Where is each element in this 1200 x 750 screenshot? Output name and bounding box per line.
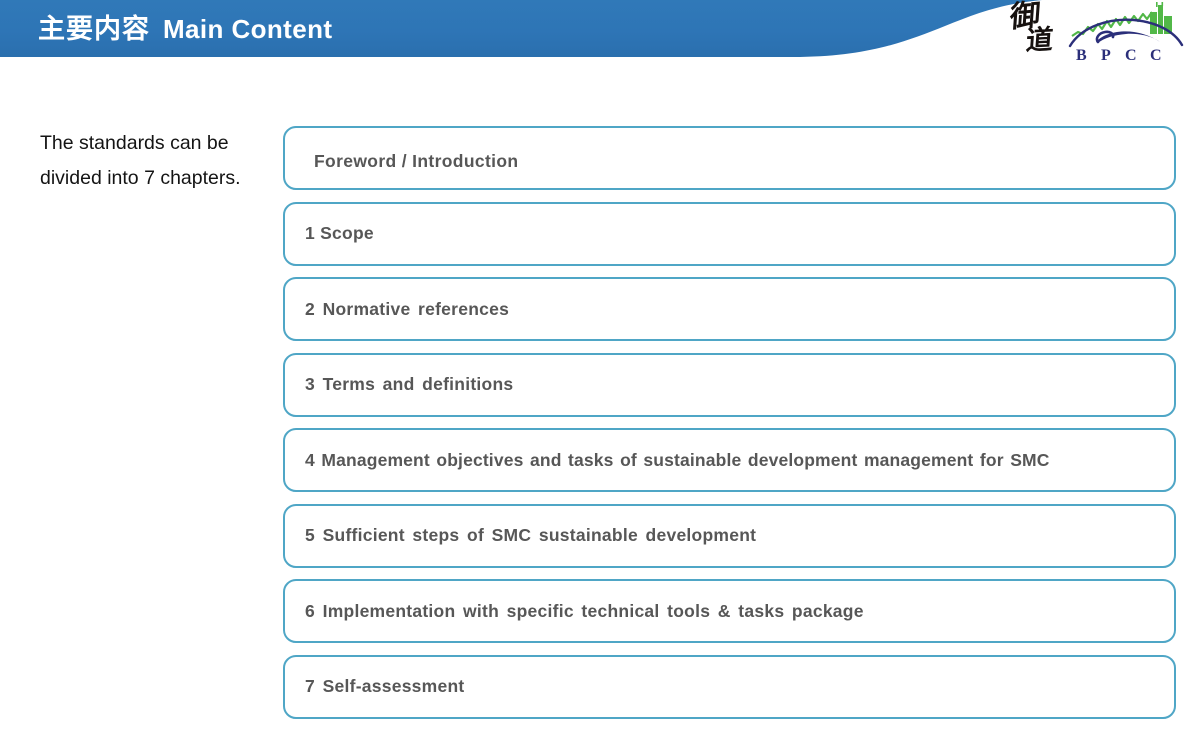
- chapter-box-7-self-assessment[interactable]: 7 Self-assessment: [283, 655, 1176, 719]
- chapter-box-3-terms-and-definitions[interactable]: 3 Terms and definitions: [283, 353, 1176, 417]
- chapter-label: 7 Self-assessment: [285, 676, 464, 697]
- chapter-label: 4 Management objectives and tasks of sus…: [285, 450, 1050, 471]
- intro-caption: The standards can be divided into 7 chap…: [40, 126, 278, 196]
- slide-canvas: 主要内容 Main Content 御 道: [0, 0, 1200, 750]
- chapter-box-2-normative-references[interactable]: 2 Normative references: [283, 277, 1176, 341]
- chapter-label: 2 Normative references: [285, 299, 509, 320]
- bpcc-logo-icon: B P C C: [1068, 2, 1186, 64]
- page-title-english: Main Content: [163, 16, 332, 42]
- chapter-label: 1 Scope: [285, 223, 374, 244]
- chapter-box-foreword[interactable]: Foreword / Introduction: [283, 126, 1176, 190]
- svg-text:C: C: [1150, 47, 1162, 64]
- chapter-label: 3 Terms and definitions: [285, 374, 513, 395]
- calligraphy-logo-icon: 御 道: [1008, 4, 1064, 62]
- chapter-label: 6 Implementation with specific technical…: [285, 601, 864, 622]
- chapter-box-4-management-objectives[interactable]: 4 Management objectives and tasks of sus…: [283, 428, 1176, 492]
- chapter-box-6-implementation[interactable]: 6 Implementation with specific technical…: [283, 579, 1176, 643]
- chapter-label: 5 Sufficient steps of SMC sustainable de…: [285, 525, 756, 546]
- chapter-box-5-sufficient-steps[interactable]: 5 Sufficient steps of SMC sustainable de…: [283, 504, 1176, 568]
- page-title-chinese: 主要内容: [38, 16, 150, 43]
- svg-text:C: C: [1125, 47, 1137, 64]
- chapter-box-1-scope[interactable]: 1 Scope: [283, 202, 1176, 266]
- calligraphy-glyph-dao: 道: [1025, 26, 1054, 54]
- svg-text:P: P: [1101, 47, 1111, 64]
- intro-caption-line1: The standards can be: [40, 126, 278, 161]
- chapter-label: Foreword / Introduction: [285, 151, 518, 172]
- intro-caption-line2: divided into 7 chapters.: [40, 161, 278, 196]
- brand-logo: 御 道 B P C C: [1008, 2, 1188, 64]
- slide-header: 主要内容 Main Content 御 道: [0, 0, 1200, 80]
- svg-text:B: B: [1076, 47, 1087, 64]
- chapter-list: Foreword / Introduction 1 Scope 2 Normat…: [283, 126, 1176, 719]
- page-title: 主要内容 Main Content: [38, 9, 332, 49]
